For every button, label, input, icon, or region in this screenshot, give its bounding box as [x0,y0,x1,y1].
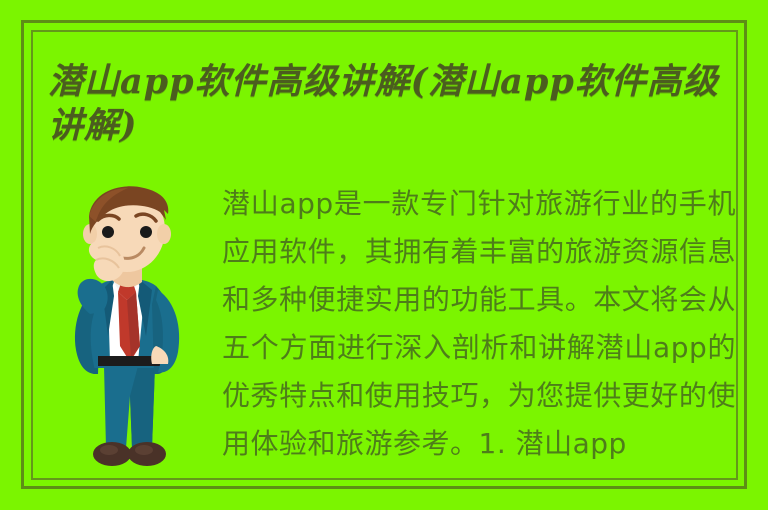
thinking-businessman-illustration [52,186,222,482]
legs [104,366,155,448]
article-body-text: 潜山app是一款专门针对旅游行业的手机应用软件，其拥有着丰富的旅游资源信息和多种… [222,180,736,468]
shoes [93,442,166,466]
belt [98,356,160,366]
article-banner-card: 潜山app软件高级讲解(潜山app软件高级讲解) [0,0,768,510]
page-title: 潜山app软件高级讲解(潜山app软件高级讲解) [48,60,728,148]
